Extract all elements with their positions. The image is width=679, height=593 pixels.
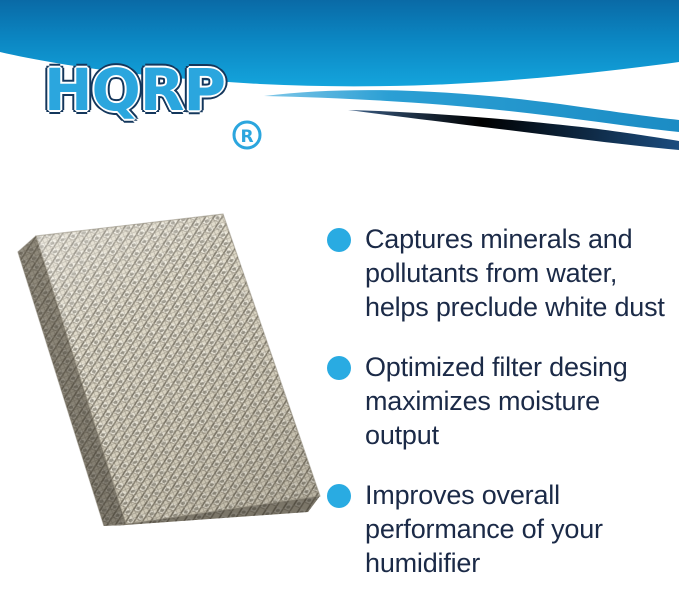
- feature-item: Optimized filter desing maximizes moistu…: [327, 350, 672, 452]
- swoosh-light-shape: [264, 90, 679, 132]
- brand-logo: HQRP R: [44, 58, 259, 130]
- feature-item: Improves overall performance of your hum…: [327, 478, 672, 580]
- feature-list: Captures minerals and pollutants from wa…: [327, 222, 672, 593]
- product-image-filter-pad: [8, 196, 338, 526]
- feature-text: Optimized filter desing maximizes moistu…: [365, 350, 672, 452]
- feature-item: Captures minerals and pollutants from wa…: [327, 222, 672, 324]
- brand-logo-text: HQRP: [44, 58, 225, 122]
- swoosh-dark-shape: [348, 110, 679, 150]
- feature-text: Captures minerals and pollutants from wa…: [365, 222, 672, 324]
- bullet-dot-icon: [327, 484, 351, 508]
- bullet-dot-icon: [327, 356, 351, 380]
- product-marketing-image: HQRP R: [0, 0, 679, 593]
- bullet-dot-icon: [327, 228, 351, 252]
- feature-text: Improves overall performance of your hum…: [365, 478, 672, 580]
- registered-mark-letter: R: [240, 127, 253, 147]
- registered-trademark-icon: R: [230, 118, 264, 152]
